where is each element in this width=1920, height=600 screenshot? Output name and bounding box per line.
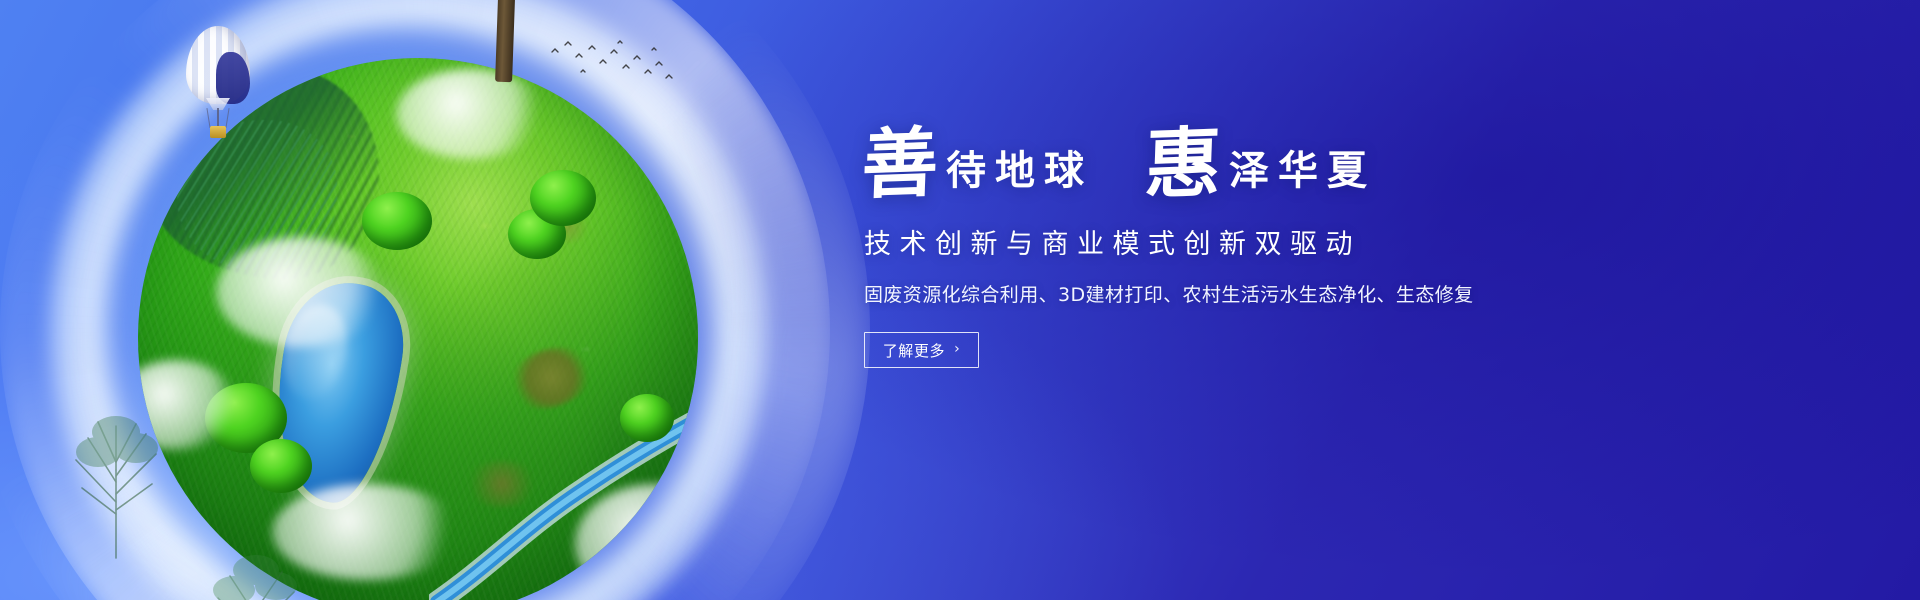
- page-title: 善 待地球 惠 泽华夏: [862, 120, 1682, 196]
- headline-text-daidiqiu: 待地球: [938, 151, 1093, 191]
- learn-more-label: 了解更多: [883, 340, 945, 361]
- hero-banner: 善 待地球 惠 泽华夏 技术创新与商业模式创新双驱动 固废资源化综合利用、3D建…: [0, 0, 1920, 600]
- headline-char-shan: 善: [861, 125, 940, 204]
- page-subtitle: 技术创新与商业模式创新双驱动: [864, 222, 1682, 261]
- hero-text-block: 善 待地球 惠 泽华夏 技术创新与商业模式创新双驱动 固废资源化综合利用、3D建…: [862, 120, 1682, 368]
- headline-text-zehuaxia: 泽华夏: [1221, 151, 1376, 191]
- page-description: 固废资源化综合利用、3D建材打印、农村生活污水生态净化、生态修复: [864, 280, 1682, 307]
- headline-char-hui: 惠: [1144, 125, 1223, 204]
- learn-more-button[interactable]: 了解更多 ›: [864, 332, 979, 368]
- chevron-right-icon: ›: [954, 342, 960, 356]
